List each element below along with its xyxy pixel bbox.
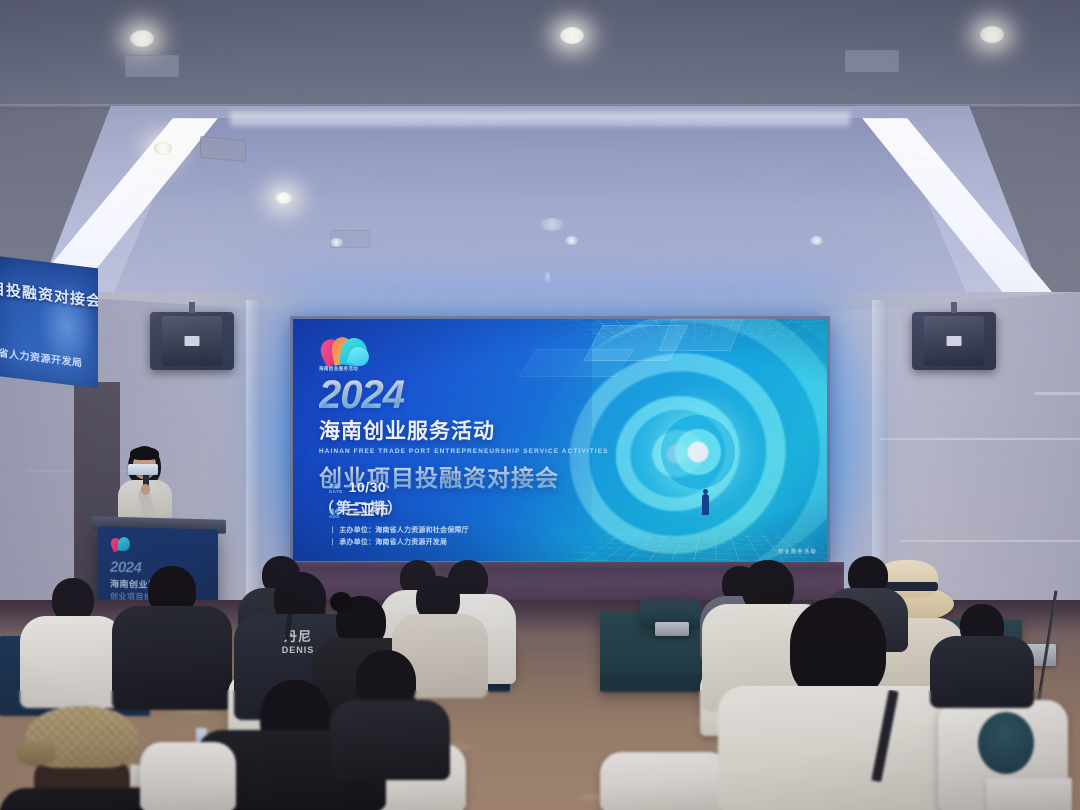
chair-sash-bow [978, 712, 1034, 774]
ceiling-air-vent [845, 50, 899, 72]
ceiling-air-vent [125, 55, 179, 77]
date-label-en: DATE [329, 490, 343, 495]
wall-banner: 目投融资对接会 南省人力资源开发局 [0, 256, 98, 389]
person-torso [20, 616, 124, 708]
wall-speaker-left [150, 312, 234, 370]
ceiling-downlight [154, 142, 172, 155]
chair [140, 742, 236, 810]
wall-molding-line [900, 540, 1080, 542]
person-torso [330, 700, 450, 780]
ceiling-light-fixture [565, 236, 578, 245]
printed-document [986, 778, 1072, 810]
led-organizer-block: 丨主办单位：海南省人力资源和社会保障厅 丨承办单位：海南省人力资源开发局 [329, 525, 469, 550]
person-torso [718, 686, 954, 810]
date-label: 日期 DATE [329, 485, 343, 495]
hair-bun [330, 592, 352, 612]
laptop-device [655, 622, 689, 636]
person-torso [930, 636, 1034, 708]
event-place-value: 三亚市 [346, 500, 390, 520]
ceiling-downlight [130, 30, 154, 47]
microphone-flag-card [128, 464, 158, 475]
co-organizer-line: 承办单位：海南省人力资源开发局 [339, 539, 447, 546]
speaker-brand-badge [947, 336, 962, 346]
wall-molding-line [880, 438, 1080, 440]
ceiling-smoke-detector [540, 218, 564, 231]
presenter-hand [141, 484, 150, 495]
ceiling-downlight [980, 26, 1004, 43]
event-date-row: 日期 DATE 10/30 [329, 479, 390, 495]
ceiling-light-fixture [810, 236, 823, 245]
co-organizer-bullet: 丨 [329, 539, 336, 546]
speaker-mount-bracket [189, 302, 195, 313]
event-year: 2024 [319, 377, 619, 414]
podium-logo-icon [110, 536, 136, 556]
place-label: 地点 ADD [329, 510, 340, 520]
logo-subtitle: 海南创业服务活动 [319, 366, 358, 372]
led-display-screen: 海南创业服务活动 2024 海南创业服务活动 HAINAN FREE TRADE… [290, 316, 830, 564]
conference-hall-photo: 目投融资对接会 南省人力资源开发局 海南创业服务活动 [0, 0, 1080, 810]
podium-logo-swoosh-cyan [117, 536, 130, 551]
organizer-line: 主办单位：海南省人力资源和社会保障厅 [339, 527, 469, 534]
ceiling-light-fixture [330, 238, 343, 247]
led-meta-block: 日期 DATE 10/30 地点 ADD 三亚市 [329, 479, 390, 525]
podium-year: 2024 [110, 559, 141, 577]
wall-molding-line [1035, 392, 1080, 395]
wall-speaker-right [912, 312, 996, 370]
place-label-en: ADD [329, 515, 340, 520]
ceiling-downlight [560, 27, 584, 44]
organizer-line-row: 丨主办单位：海南省人力资源和社会保障厅 [329, 525, 469, 537]
ceiling-air-vent [200, 136, 246, 162]
co-organizer-line-row: 丨承办单位：海南省人力资源开发局 [329, 537, 469, 549]
event-date-value: 10/30 [349, 479, 387, 495]
cap-brim [16, 742, 56, 766]
led-corner-mark: 创业服务活动 [778, 548, 817, 555]
cove-light-strip-top [230, 112, 850, 126]
speaker-mount-bracket [951, 302, 957, 313]
ceiling-sprinkler [545, 270, 550, 284]
presenter-hair-fringe [130, 447, 159, 460]
organizer-bullet: 丨 [329, 527, 336, 534]
person-head-hair [790, 598, 886, 700]
event-logo-icon: 海南创业服务活动 [319, 335, 373, 375]
speaker-brand-badge [185, 336, 200, 346]
ceiling-soffit [0, 0, 1080, 108]
event-title-en: HAINAN FREE TRADE PORT ENTREPRENEURSHIP … [319, 448, 619, 455]
event-title-cn: 海南创业服务活动 [319, 415, 619, 445]
event-place-row: 地点 ADD 三亚市 [329, 500, 390, 520]
chair [600, 752, 730, 810]
ceiling-downlight [275, 192, 292, 204]
person-torso [112, 606, 232, 710]
